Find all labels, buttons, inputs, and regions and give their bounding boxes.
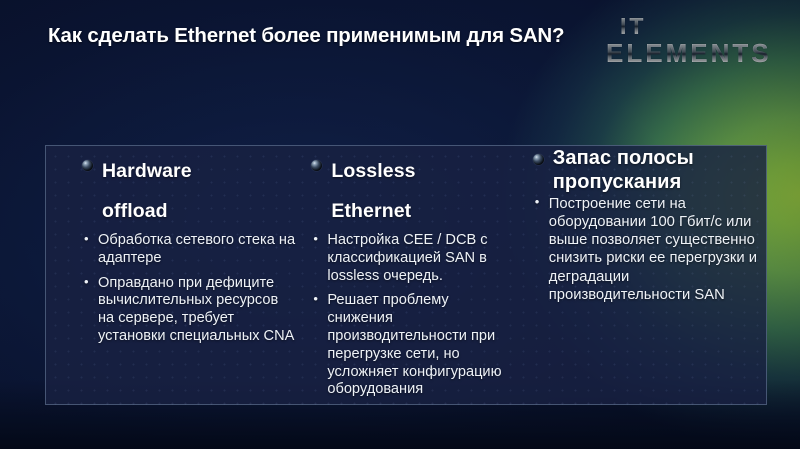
it-elements-logo: IT ELEMENTS [606,14,776,67]
column-3-heading-line-2: пропускания [533,170,766,194]
column-3-bullet-list: Построение сети на оборудовании 100 Гбит… [533,195,766,304]
slide-title: Как сделать Ethernet более применимым дл… [48,24,618,49]
content-panel-columns: Hardware offload Обработка сетевого стек… [46,146,766,404]
column-3-heading-line-1: Запас полосы [533,146,766,170]
column-lossless-ethernet: Lossless Ethernet Настройка CEE / DCB с … [295,146,516,404]
column-hardware-offload: Hardware offload Обработка сетевого стек… [46,146,295,404]
sphere-bullet-icon [82,160,93,171]
list-item: Оправдано при дефиците вычислительных ре… [82,275,295,346]
logo-line-elements: ELEMENTS [606,40,776,67]
content-panel: Hardware offload Обработка сетевого стек… [45,145,767,405]
column-2-heading-line-1: Lossless [311,152,516,192]
column-2-heading-line-2: Ethernet [311,192,516,232]
column-1-heading-line-2: offload [82,192,295,232]
column-bandwidth-reserve: Запас полосы пропускания Построение сети… [517,146,766,404]
presentation-slide: Как сделать Ethernet более применимым дл… [0,0,800,449]
column-1-heading-line-1: Hardware [82,152,295,192]
logo-line-it: IT [620,14,776,38]
list-item: Построение сети на оборудовании 100 Гбит… [533,195,766,304]
list-item: Настройка CEE / DCB с классификацией SAN… [311,232,516,285]
sphere-bullet-icon [533,154,544,165]
column-2-bullet-list: Настройка CEE / DCB с классификацией SAN… [311,232,516,399]
column-2-heading: Lossless Ethernet [311,152,516,232]
list-item: Решает проблему снижения производительно… [311,292,516,399]
column-1-bullet-list: Обработка сетевого стека на адаптере Опр… [82,232,295,346]
list-item: Обработка сетевого стека на адаптере [82,232,295,268]
column-1-heading: Hardware offload [82,152,295,232]
column-3-heading: Запас полосы пропускания [533,146,766,195]
